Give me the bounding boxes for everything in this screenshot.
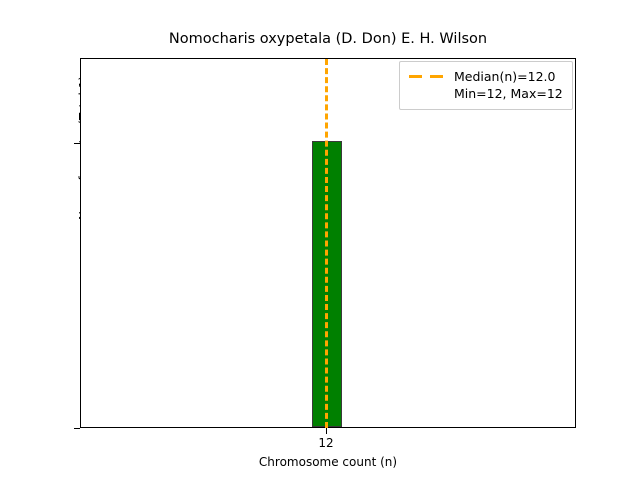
plot-area xyxy=(80,58,576,428)
chart-figure: Nomocharis oxypetala (D. Don) E. H. Wils… xyxy=(0,0,640,480)
x-tick-mark-12 xyxy=(326,428,327,434)
dashed-line-icon xyxy=(409,71,445,83)
median-line xyxy=(325,59,328,428)
legend-marker-empty xyxy=(409,88,445,100)
x-tick-label-12: 12 xyxy=(296,437,356,450)
legend[interactable]: Median(n)=12.0 Min=12, Max=12 xyxy=(399,61,573,110)
legend-label-median: Median(n)=12.0 xyxy=(454,69,555,84)
page-title: Nomocharis oxypetala (D. Don) E. H. Wils… xyxy=(80,30,576,48)
legend-label-range: Min=12, Max=12 xyxy=(454,86,563,101)
x-axis-label: Chromosome count (n) xyxy=(80,455,576,469)
legend-entry-range: Min=12, Max=12 xyxy=(409,85,563,102)
legend-entry-median: Median(n)=12.0 xyxy=(409,68,563,85)
